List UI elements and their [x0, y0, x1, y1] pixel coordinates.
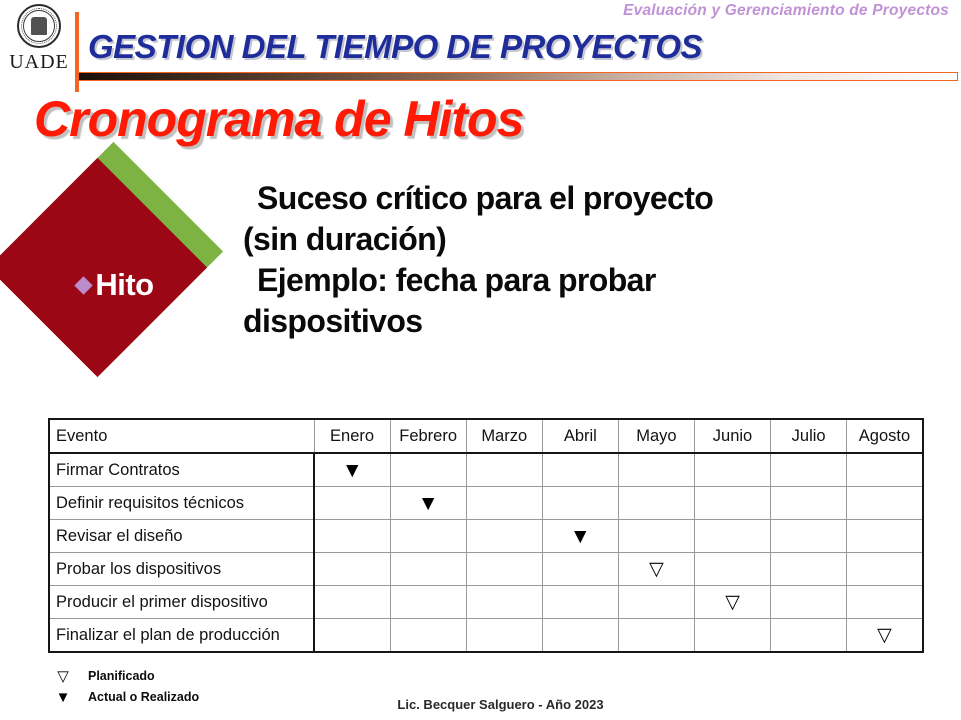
- column-header-mayo: Mayo: [618, 419, 694, 453]
- milestone-empty-cell: [847, 487, 923, 520]
- milestone-empty-cell: [314, 586, 390, 619]
- table-row: Producir el primer dispositivo▽: [49, 586, 923, 619]
- milestone-empty-cell: [542, 453, 618, 487]
- milestone-empty-cell: [694, 487, 770, 520]
- event-name-cell: Finalizar el plan de producción: [49, 619, 314, 653]
- milestone-done-cell: ▼: [542, 520, 618, 553]
- event-name-cell: Revisar el diseño: [49, 520, 314, 553]
- body-line-1: Suceso crítico para el proyecto: [243, 178, 943, 219]
- event-name-cell: Firmar Contratos: [49, 453, 314, 487]
- university-seal-icon: [17, 4, 61, 48]
- hito-label-group: Hito: [8, 268, 223, 302]
- legend-item-planificado: ▽ Planificado: [52, 666, 199, 687]
- column-header-julio: Julio: [771, 419, 847, 453]
- header-title: GESTION DEL TIEMPO DE PROYECTOS: [88, 28, 702, 66]
- column-header-evento: Evento: [49, 419, 314, 453]
- planned-marker-icon: ▽: [649, 559, 664, 580]
- milestone-empty-cell: [847, 553, 923, 586]
- done-marker-icon: ▼: [418, 492, 439, 515]
- milestone-empty-cell: [466, 487, 542, 520]
- milestone-empty-cell: [466, 586, 542, 619]
- milestone-planned-cell: ▽: [618, 553, 694, 586]
- body-line-4: dispositivos: [243, 301, 943, 342]
- column-header-enero: Enero: [314, 419, 390, 453]
- milestone-done-cell: ▼: [390, 487, 466, 520]
- planned-marker-icon: ▽: [725, 592, 740, 613]
- event-name-cell: Producir el primer dispositivo: [49, 586, 314, 619]
- planned-marker-icon: ▽: [877, 625, 892, 646]
- column-header-marzo: Marzo: [466, 419, 542, 453]
- table-body: Firmar Contratos▼Definir requisitos técn…: [49, 453, 923, 652]
- body-line-3: Ejemplo: fecha para probar: [243, 260, 943, 301]
- header-gradient-rule: [78, 72, 958, 81]
- milestone-empty-cell: [694, 453, 770, 487]
- footer-credit: Lic. Becquer Salguero - Año 2023: [0, 697, 961, 712]
- milestone-empty-cell: [618, 586, 694, 619]
- column-header-febrero: Febrero: [390, 419, 466, 453]
- table-header-row: Evento Enero Febrero Marzo Abril Mayo Ju…: [49, 419, 923, 453]
- milestone-empty-cell: [466, 553, 542, 586]
- planned-marker-icon: ▽: [52, 666, 74, 687]
- milestone-empty-cell: [618, 619, 694, 653]
- milestone-empty-cell: [618, 453, 694, 487]
- milestone-empty-cell: [618, 487, 694, 520]
- milestone-empty-cell: [390, 520, 466, 553]
- seal-inner-ring: [21, 8, 57, 44]
- table-row: Probar los dispositivos▽: [49, 553, 923, 586]
- milestone-empty-cell: [542, 487, 618, 520]
- column-header-abril: Abril: [542, 419, 618, 453]
- milestone-empty-cell: [314, 487, 390, 520]
- milestone-empty-cell: [847, 453, 923, 487]
- milestone-empty-cell: [542, 586, 618, 619]
- milestone-empty-cell: [694, 520, 770, 553]
- slide-header: UADE Evaluación y Gerenciamiento de Proy…: [0, 0, 961, 92]
- table-header: Evento Enero Febrero Marzo Abril Mayo Ju…: [49, 419, 923, 453]
- milestone-empty-cell: [771, 453, 847, 487]
- diamond-bullet-icon: [75, 276, 93, 294]
- milestone-empty-cell: [314, 520, 390, 553]
- course-subtitle: Evaluación y Gerenciamiento de Proyectos: [623, 2, 949, 20]
- milestone-empty-cell: [694, 553, 770, 586]
- table-row: Firmar Contratos▼: [49, 453, 923, 487]
- milestone-planned-cell: ▽: [847, 619, 923, 653]
- milestone-empty-cell: [314, 553, 390, 586]
- table-row: Finalizar el plan de producción▽: [49, 619, 923, 653]
- milestone-schedule-table: Evento Enero Febrero Marzo Abril Mayo Ju…: [48, 418, 924, 653]
- milestone-empty-cell: [771, 520, 847, 553]
- done-marker-icon: ▼: [342, 459, 363, 482]
- milestone-empty-cell: [771, 619, 847, 653]
- uade-logo: UADE: [8, 4, 70, 78]
- milestone-empty-cell: [694, 619, 770, 653]
- milestone-empty-cell: [618, 520, 694, 553]
- milestone-empty-cell: [542, 619, 618, 653]
- hito-diamond-callout: Hito: [8, 172, 230, 394]
- milestone-planned-cell: ▽: [694, 586, 770, 619]
- milestone-empty-cell: [847, 520, 923, 553]
- legend-label-planificado: Planificado: [88, 666, 155, 687]
- milestone-done-cell: ▼: [314, 453, 390, 487]
- column-header-junio: Junio: [694, 419, 770, 453]
- event-name-cell: Probar los dispositivos: [49, 553, 314, 586]
- milestone-empty-cell: [771, 586, 847, 619]
- milestone-empty-cell: [771, 487, 847, 520]
- milestone-empty-cell: [466, 619, 542, 653]
- milestone-empty-cell: [847, 586, 923, 619]
- table-row: Definir requisitos técnicos▼: [49, 487, 923, 520]
- hito-label: Hito: [95, 268, 153, 302]
- milestone-empty-cell: [390, 586, 466, 619]
- milestone-empty-cell: [771, 553, 847, 586]
- milestone-empty-cell: [466, 520, 542, 553]
- done-marker-icon: ▼: [570, 525, 591, 548]
- milestone-empty-cell: [390, 553, 466, 586]
- milestone-empty-cell: [390, 619, 466, 653]
- milestone-empty-cell: [466, 453, 542, 487]
- event-name-cell: Definir requisitos técnicos: [49, 487, 314, 520]
- milestone-empty-cell: [314, 619, 390, 653]
- table-row: Revisar el diseño▼: [49, 520, 923, 553]
- slide-title: Cronograma de Hitos: [34, 90, 523, 148]
- body-text-block: Suceso crítico para el proyecto (sin dur…: [243, 178, 943, 342]
- body-line-2: (sin duración): [243, 219, 943, 260]
- milestone-empty-cell: [390, 453, 466, 487]
- milestone-empty-cell: [542, 553, 618, 586]
- uade-wordmark: UADE: [8, 50, 70, 74]
- column-header-agosto: Agosto: [847, 419, 923, 453]
